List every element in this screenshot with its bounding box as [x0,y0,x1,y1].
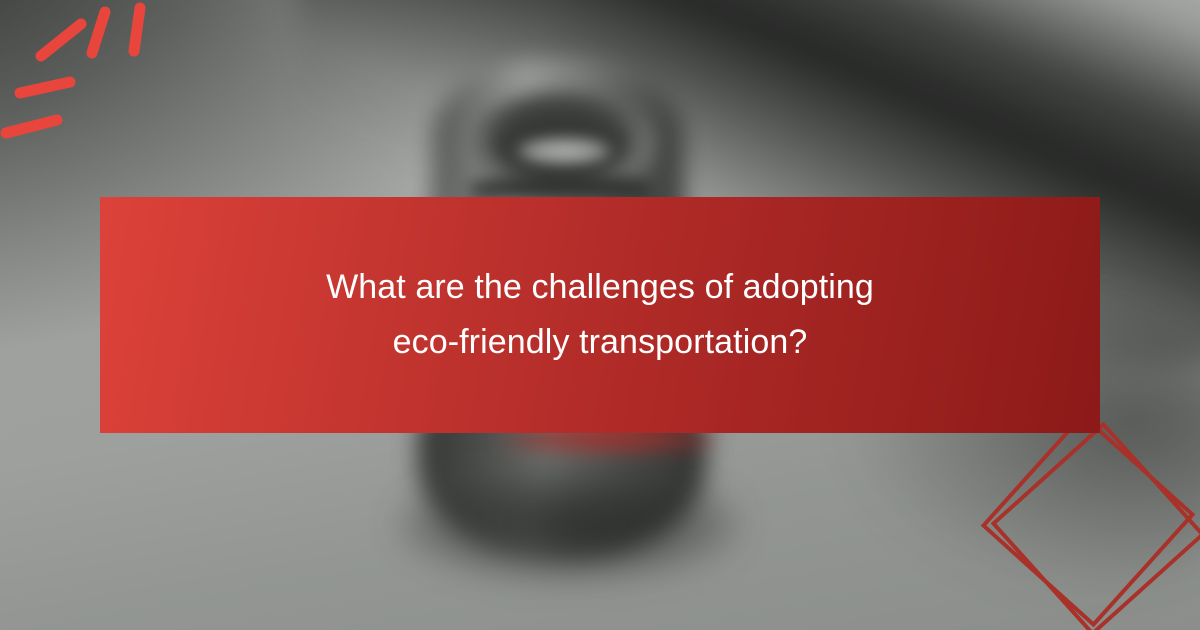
question-card: What are the challenges of adopting eco-… [0,0,1200,630]
sparkle-burst-icon [0,0,200,180]
sparkle-stroke-5 [134,8,140,51]
question-title: What are the challenges of adopting eco-… [326,260,874,370]
rotated-square-1 [983,415,1192,624]
rotated-squares-icon [970,400,1200,630]
background-object-shadow [398,470,740,580]
sparkle-stroke-3 [41,24,81,56]
sparkle-stroke-1 [6,120,57,133]
sparkle-stroke-2 [20,82,70,93]
rotated-square-2 [993,424,1200,630]
question-banner: What are the challenges of adopting eco-… [100,197,1100,433]
sparkle-stroke-4 [92,12,105,53]
background-object-highlight [516,136,612,166]
